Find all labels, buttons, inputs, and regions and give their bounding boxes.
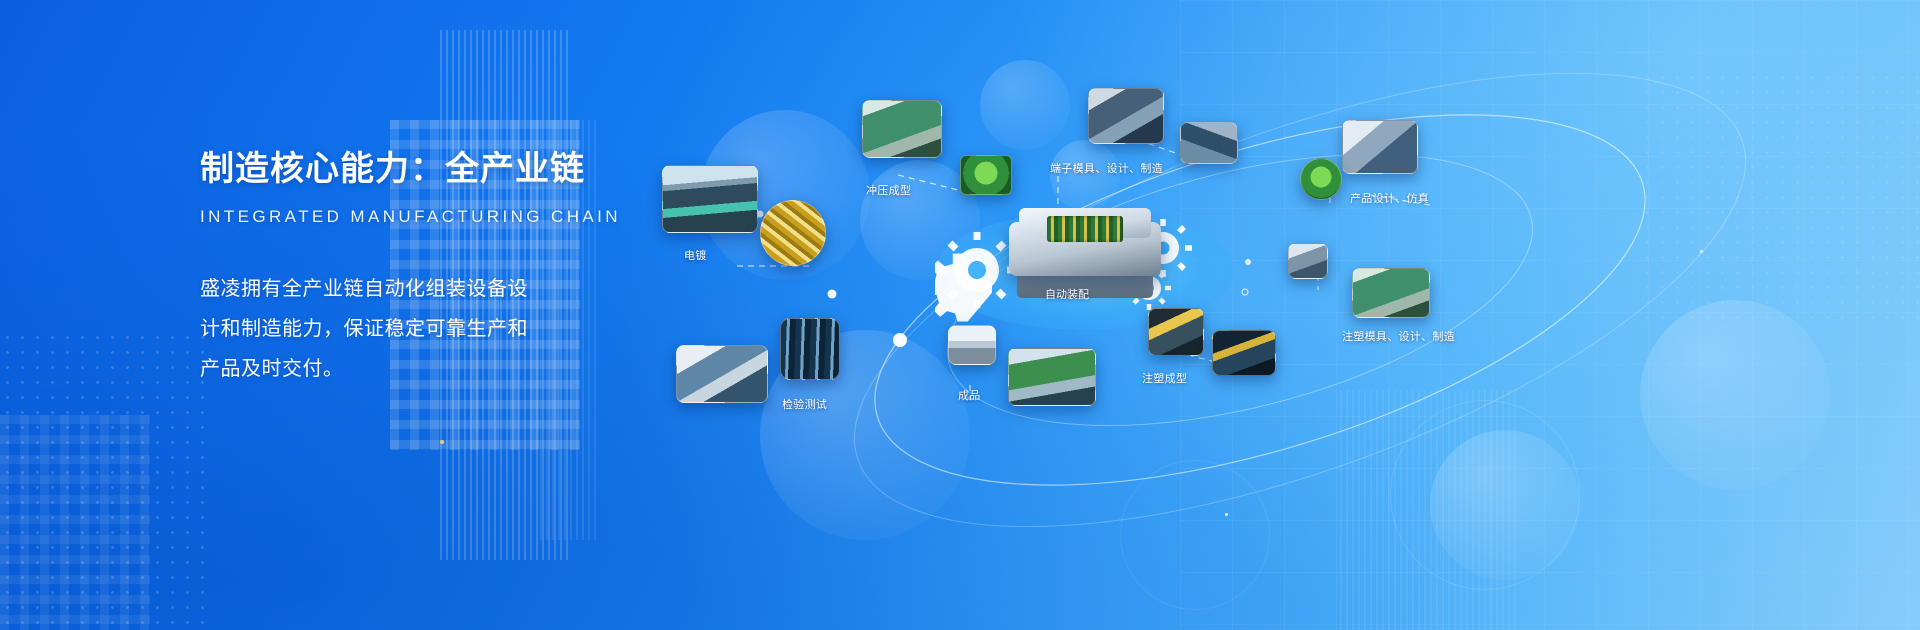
node-product-design[interactable]: 产品设计、仿真 (1342, 120, 1418, 174)
background-dotfield-left (0, 330, 210, 630)
node-design-mold[interactable] (1300, 158, 1342, 200)
node-label-product-design: 产品设计、仿真 (1350, 190, 1429, 206)
thumb-machining-cell[interactable] (1212, 330, 1276, 376)
thumb-design-station[interactable] (1342, 120, 1418, 174)
thumb-terminal-die-part[interactable] (1180, 122, 1238, 164)
thumb-inspection-lab[interactable] (676, 345, 768, 403)
thumb-mold-block[interactable] (1288, 243, 1328, 279)
node-plating[interactable]: 电镀 (662, 165, 758, 233)
thumb-test-rack[interactable] (780, 318, 840, 380)
node-inspection-lab[interactable] (676, 345, 768, 403)
node-gold-reel[interactable] (760, 200, 826, 266)
node-terminal-die-part[interactable] (1180, 122, 1238, 164)
node-mold-block[interactable] (1288, 243, 1328, 279)
thumb-design-mold[interactable] (1300, 158, 1342, 200)
thumb-finished-product[interactable] (948, 325, 996, 365)
node-label-inspection: 检验测试 (782, 396, 827, 412)
manufacturing-chain-diagram: 自动装配 电镀 冲压成型 端子模具、设计、制造 (640, 0, 1920, 630)
node-injection-molding[interactable]: 注塑成型 (1148, 308, 1204, 356)
page-subtitle: INTEGRATED MANUFACTURING CHAIN (200, 207, 620, 227)
node-label-finished: 成品 (958, 387, 981, 403)
thumb-green-mold[interactable] (960, 155, 1012, 195)
node-assembly-line[interactable] (1008, 348, 1096, 406)
page-title: 制造核心能力：全产业链 (200, 148, 620, 191)
node-machining-cell[interactable] (1212, 330, 1276, 376)
thumb-assembly-line[interactable] (1008, 348, 1096, 406)
node-inspection[interactable]: 检验测试 (780, 318, 840, 380)
thumb-injection-machine[interactable] (1148, 308, 1204, 356)
node-label-injection-die: 注塑模具、设计、制造 (1342, 328, 1455, 344)
node-label-stamping: 冲压成型 (866, 182, 911, 198)
node-injection-die[interactable]: 注塑模具、设计、制造 (1352, 268, 1430, 318)
node-terminal-die[interactable]: 端子模具、设计、制造 (1088, 88, 1164, 144)
hero-copy: 制造核心能力：全产业链 INTEGRATED MANUFACTURING CHA… (200, 148, 620, 389)
node-label-injection-molding: 注塑成型 (1142, 370, 1187, 386)
orbit-connector-lines (640, 0, 1920, 630)
thumb-cnc-room[interactable] (1352, 268, 1430, 318)
center-stage-label: 自动装配 (1045, 286, 1089, 302)
hero-description-line: 盛凌拥有全产业链自动化组装设备设 (200, 269, 560, 309)
node-label-plating: 电镀 (684, 247, 707, 263)
background-squarefield-low (0, 415, 150, 630)
spark-decoration (440, 440, 444, 444)
node-stamping[interactable]: 冲压成型 (862, 100, 942, 158)
hero-description-line: 计和制造能力，保证稳定可靠生产和 (200, 309, 560, 349)
hero-banner: 制造核心能力：全产业链 INTEGRATED MANUFACTURING CHA… (0, 0, 1920, 630)
thumb-gold-reel[interactable] (760, 200, 826, 266)
hero-description-line: 产品及时交付。 (200, 349, 560, 389)
thumb-plating-line[interactable] (662, 165, 758, 233)
node-green-mold[interactable] (960, 155, 1012, 195)
node-label-terminal-die: 端子模具、设计、制造 (1050, 160, 1163, 176)
hero-description: 盛凌拥有全产业链自动化组装设备设 计和制造能力，保证稳定可靠生产和 产品及时交付… (200, 269, 560, 389)
thumb-stamping-machine[interactable] (862, 100, 942, 158)
thumb-terminal-shop[interactable] (1088, 88, 1164, 144)
assembly-machine-tooling (1047, 216, 1123, 242)
node-finished[interactable]: 成品 (948, 325, 996, 365)
